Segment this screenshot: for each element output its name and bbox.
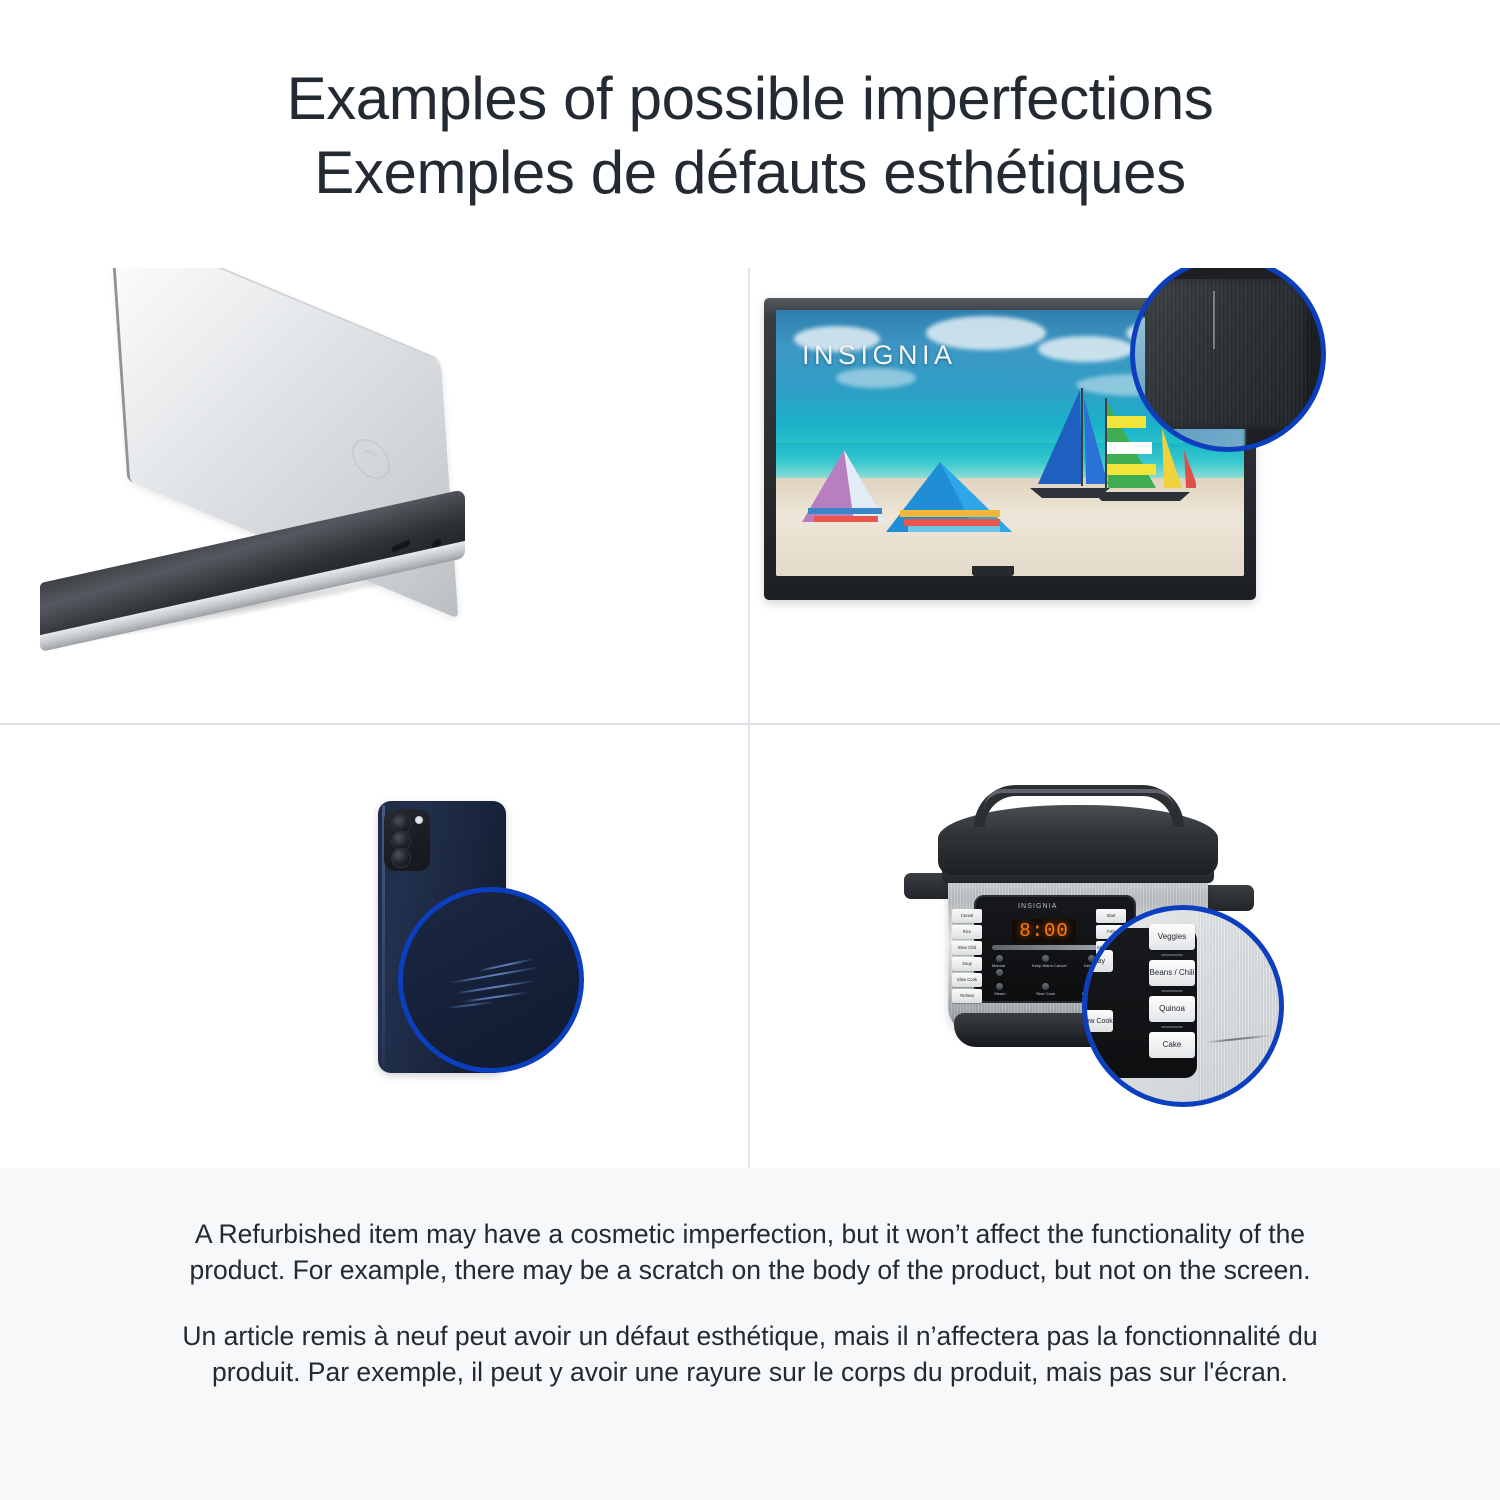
example-cell-smartphone xyxy=(0,727,748,1168)
cooker-key-keepwarm[interactable] xyxy=(1042,955,1049,962)
television-illustration: INSIGNIA xyxy=(752,268,1500,723)
cooker-key-label-slowcook: Slow Cook xyxy=(1036,991,1055,996)
cooker-key-label-manual: Manual xyxy=(992,963,1005,968)
footer-paragraph-fr: Un article remis à neuf peut avoir un dé… xyxy=(175,1318,1325,1390)
cooker-button-column-left: Cereal Rice Stew Chili Soup Slow Cook Re… xyxy=(952,909,982,1003)
phone-camera-lens-3 xyxy=(391,848,411,868)
example-cell-pressure-cooker: INSIGNIA 8:00 Cereal Rice Stew Chili Sou… xyxy=(752,727,1500,1168)
cooker-magnified-button-quinoa: Quinoa xyxy=(1149,996,1195,1022)
pressure-cooker-illustration: INSIGNIA 8:00 Cereal Rice Stew Chili Sou… xyxy=(752,727,1500,1168)
cooker-display-value: 8:00 xyxy=(1019,920,1069,942)
cooker-key-label-steam: Steam xyxy=(994,991,1006,996)
cooker-button-slowcook[interactable]: Slow Cook xyxy=(952,973,982,987)
cooker-key-slowcook[interactable] xyxy=(1042,983,1049,990)
cooker-side-handle-right xyxy=(1204,885,1254,911)
phone-scratch-3 xyxy=(463,991,529,1002)
laptop-usb-port xyxy=(392,539,410,553)
cooker-key-manual[interactable] xyxy=(996,955,1003,962)
grid-divider-vertical xyxy=(748,268,750,1168)
grid-divider-horizontal xyxy=(0,723,1500,725)
cooker-button-stew[interactable]: Stew Chili xyxy=(952,941,982,955)
cooker-button-reheat[interactable]: Reheat xyxy=(952,989,982,1003)
page-footer: A Refurbished item may have a cosmetic i… xyxy=(0,1168,1500,1500)
cooker-handle-highlight xyxy=(984,789,1174,809)
cooker-button-cereal[interactable]: Cereal xyxy=(952,909,982,923)
tv-bezel-scuff-mark xyxy=(1213,291,1215,349)
tv-magnifier-circle xyxy=(1130,268,1326,452)
cooker-button-rice[interactable]: Rice xyxy=(952,925,982,939)
page-title-fr: Exemples de défauts esthétiques xyxy=(314,136,1186,210)
cooker-magnified-button-veggies: Veggies xyxy=(1149,924,1195,950)
cooker-key-extra[interactable] xyxy=(996,983,1003,990)
smartphone-illustration xyxy=(0,727,748,1168)
tv-brand-logo: INSIGNIA xyxy=(802,340,957,371)
phone-camera-module xyxy=(384,809,430,871)
examples-grid: INSIGNIA xyxy=(0,268,1500,1168)
cooker-magnified-button-slowcook: Slow Cook xyxy=(1082,1010,1113,1032)
example-cell-television: INSIGNIA xyxy=(752,268,1500,723)
tv-center-foot xyxy=(972,566,1014,576)
tv-scene-tent-center xyxy=(884,460,1054,540)
cooker-magnifier-circle: Delay Slow Cook Veggies Beans / Chili Qu… xyxy=(1082,905,1284,1107)
cooker-magnified-button-delay: Delay xyxy=(1082,950,1113,972)
phone-scratch-5 xyxy=(447,1001,495,1009)
cooker-magnified-button-cake: Cake xyxy=(1149,1032,1195,1058)
cooker-brand-logo: INSIGNIA xyxy=(1018,903,1058,910)
footer-paragraph-en: A Refurbished item may have a cosmetic i… xyxy=(175,1216,1325,1288)
cooker-magnified-button-beans: Beans / Chili xyxy=(1149,960,1195,986)
cooker-magnified-steel-texture xyxy=(1197,910,1284,1107)
phone-camera-flash-icon xyxy=(415,816,423,824)
page-title-en: Examples of possible imperfections xyxy=(287,62,1214,136)
cooker-button-soup[interactable]: Soup xyxy=(952,957,982,971)
cooker-button-start[interactable]: Start xyxy=(1096,909,1126,923)
cooker-key-label-keepwarm: Keep Warm Cancel xyxy=(1032,963,1067,968)
example-cell-laptop xyxy=(0,268,748,723)
laptop-illustration xyxy=(0,268,748,723)
page-header: Examples of possible imperfections Exemp… xyxy=(0,0,1500,268)
cooker-pressure-slider[interactable] xyxy=(992,945,1098,950)
cooker-key-steam[interactable] xyxy=(996,969,1003,976)
tv-bezel-texture xyxy=(1145,279,1311,429)
cooker-display: 8:00 xyxy=(1012,919,1076,943)
phone-magnifier-circle xyxy=(398,887,584,1073)
